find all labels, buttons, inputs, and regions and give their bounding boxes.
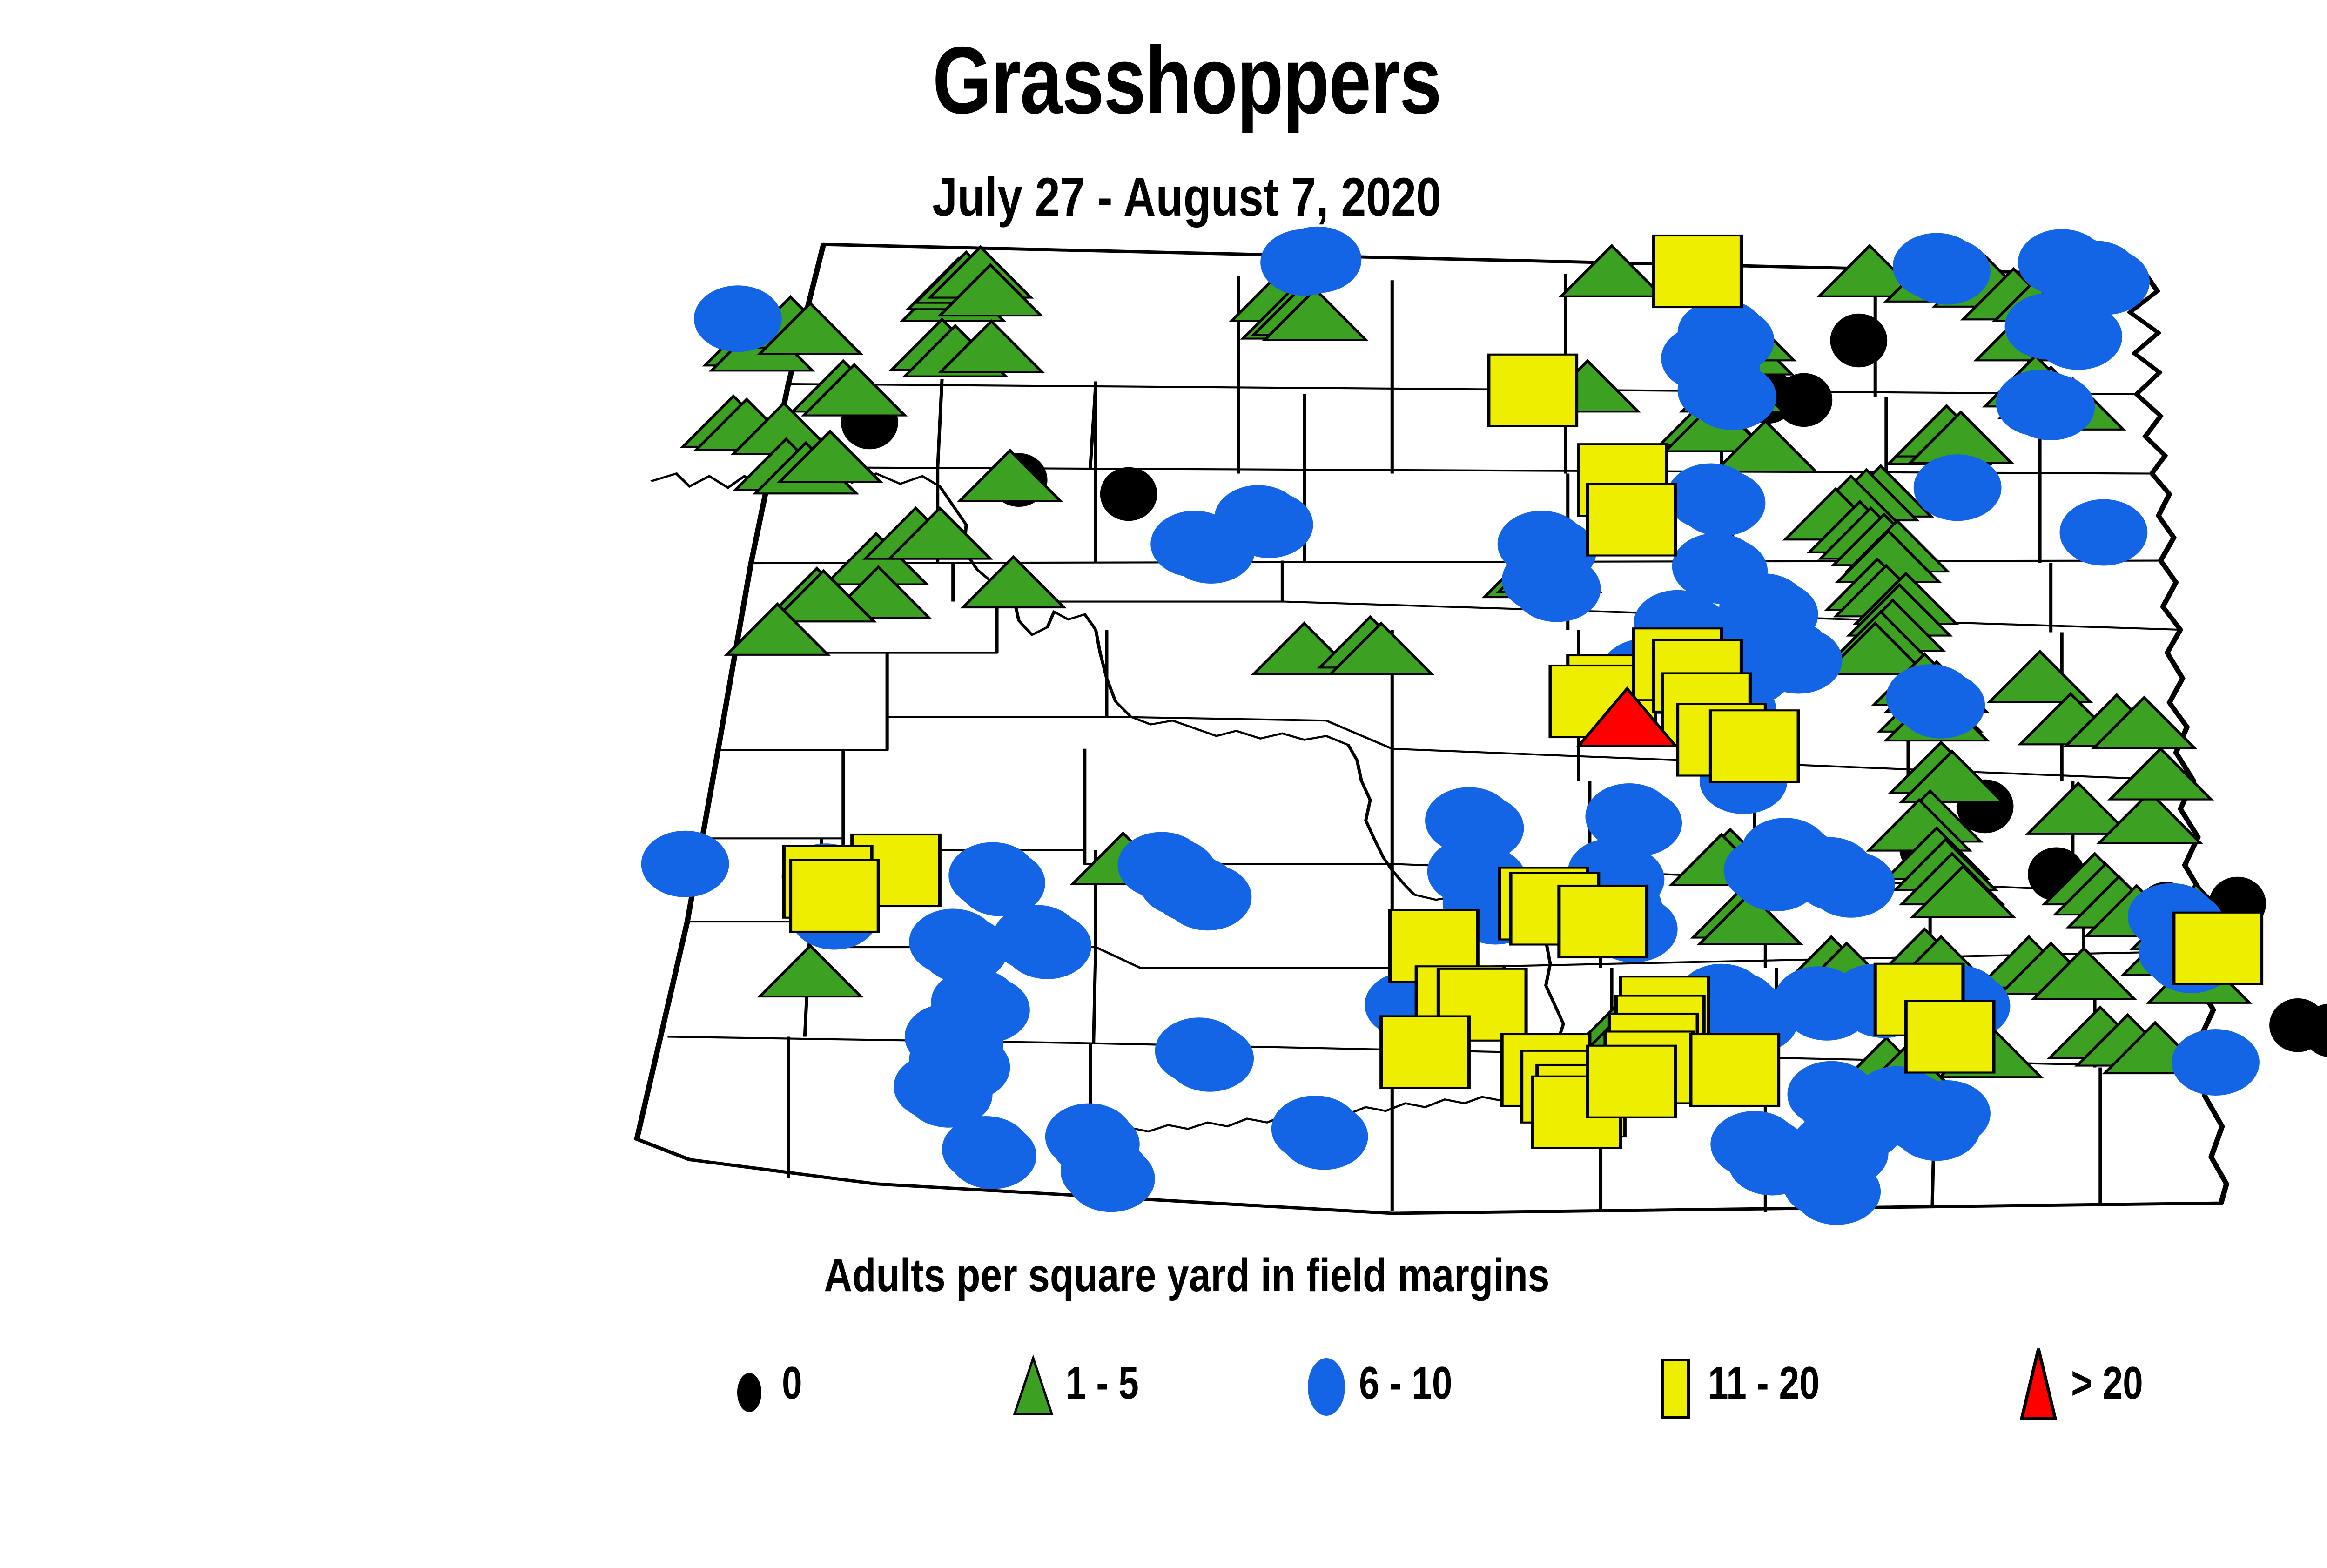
legend-label-over-20: > 20 bbox=[2071, 1360, 2143, 1406]
legend-label-1-5: 1 - 5 bbox=[1066, 1360, 1139, 1406]
circle-blue-icon bbox=[1298, 1340, 1354, 1429]
map-marker[interactable] bbox=[1100, 467, 1157, 521]
map-marker[interactable] bbox=[1654, 236, 1742, 307]
map-marker[interactable] bbox=[641, 831, 729, 897]
map-marker[interactable] bbox=[1280, 1104, 1368, 1170]
legend-label-0: 0 bbox=[782, 1360, 802, 1406]
map-marker[interactable] bbox=[1903, 238, 1991, 305]
map-marker[interactable] bbox=[1559, 886, 1647, 957]
map-marker[interactable] bbox=[1710, 710, 1798, 782]
legend-label-6-10: 6 - 10 bbox=[1359, 1360, 1452, 1406]
map-marker[interactable] bbox=[1903, 1080, 1991, 1147]
legend[interactable]: 0 1 - 5 6 - 10 11 - 20 > 20 bbox=[721, 1340, 2257, 1429]
square-yellow-icon bbox=[1648, 1340, 1703, 1429]
triangle-green-icon bbox=[1005, 1340, 1061, 1429]
circle-black-icon bbox=[721, 1340, 777, 1429]
legend-label-11-20: 11 - 20 bbox=[1708, 1360, 1820, 1406]
map-marker[interactable] bbox=[1513, 556, 1601, 622]
map-marker[interactable] bbox=[1587, 1046, 1675, 1117]
map-marker[interactable] bbox=[2172, 1029, 2260, 1096]
map-marker[interactable] bbox=[2174, 913, 2262, 984]
map-marker[interactable] bbox=[1489, 355, 1577, 426]
map-marker[interactable] bbox=[1274, 227, 1362, 293]
map-marker[interactable] bbox=[1691, 1034, 1779, 1106]
map-marker[interactable] bbox=[2007, 374, 2095, 440]
map-marker[interactable] bbox=[1914, 454, 2002, 521]
map-marker[interactable] bbox=[1587, 484, 1675, 556]
map-marker[interactable] bbox=[1003, 913, 1091, 979]
north-dakota-map[interactable] bbox=[624, 205, 2327, 1229]
map-marker[interactable] bbox=[1225, 491, 1313, 558]
map-marker[interactable] bbox=[1381, 1016, 1469, 1088]
map-marker[interactable] bbox=[1793, 1158, 1881, 1225]
map-canvas[interactable] bbox=[624, 205, 2327, 1229]
map-marker[interactable] bbox=[2060, 499, 2148, 566]
map-marker[interactable] bbox=[791, 860, 879, 932]
map-marker[interactable] bbox=[1776, 373, 1833, 427]
map-marker[interactable] bbox=[1830, 314, 1888, 368]
map-marker[interactable] bbox=[1688, 363, 1776, 430]
map-marker[interactable] bbox=[1906, 1001, 1994, 1073]
grasshopper-survey-figure: Grasshoppers July 27 - August 7, 2020 bbox=[0, 0, 2327, 1568]
triangle-red-icon bbox=[2011, 1340, 2066, 1429]
map-marker[interactable] bbox=[1807, 851, 1895, 918]
map-marker[interactable] bbox=[1164, 864, 1252, 930]
map-marker[interactable] bbox=[1897, 672, 1985, 739]
page-title: Grasshoppers bbox=[237, 33, 2136, 128]
map-marker[interactable] bbox=[948, 1123, 1036, 1189]
map-marker[interactable] bbox=[1067, 1145, 1155, 1212]
map-marker[interactable] bbox=[1678, 470, 1766, 536]
legend-title: Adults per square yard in field margins bbox=[190, 1252, 2184, 1299]
map-marker[interactable] bbox=[1166, 1025, 1254, 1092]
map-marker[interactable] bbox=[694, 285, 782, 352]
map-marker[interactable] bbox=[2034, 303, 2122, 370]
county-line bbox=[1094, 947, 1096, 1043]
